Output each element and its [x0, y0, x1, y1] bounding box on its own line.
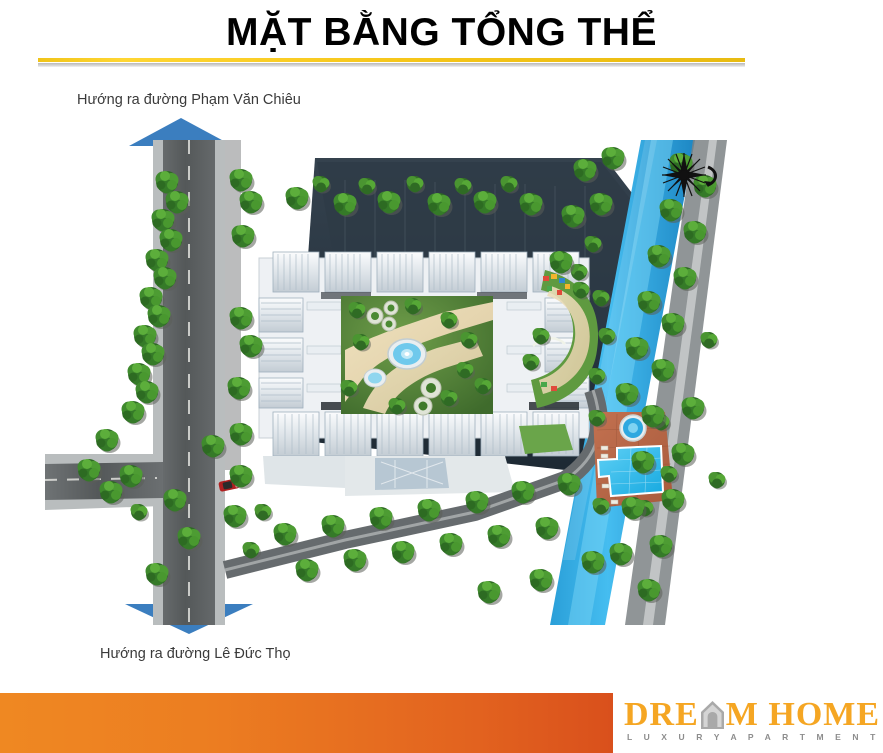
logo-word-left: DRE [624, 698, 699, 732]
direction-label-top: Hướng ra đường Phạm Văn Chiêu [77, 92, 301, 108]
house-icon [700, 700, 725, 730]
logo-tagline: L U X U R Y A P A R T M E N T [627, 732, 871, 742]
siteplan-cross-road [45, 454, 163, 510]
page-title: MẶT BẰNG TỔNG THỂ [0, 10, 883, 56]
title-divider-gold-line [38, 58, 745, 62]
title-divider [38, 58, 745, 67]
siteplan-central-courtyard [341, 296, 494, 416]
title-divider-shadow-line [38, 63, 745, 67]
direction-label-bottom: Hướng ra đường Lê Đức Thọ [100, 646, 291, 662]
siteplan-green-verge [519, 424, 573, 454]
siteplan-fountain [388, 339, 426, 369]
logo-word-right: M HOME [726, 698, 880, 732]
logo-wordmark: DREM HOME [624, 696, 874, 730]
footer-accent-bar [0, 693, 613, 753]
brand-logo: DREM HOME L U X U R Y A P A R T M E N T [624, 694, 874, 750]
siteplan-image [45, 140, 727, 625]
siteplan-jacuzzi [620, 415, 646, 441]
